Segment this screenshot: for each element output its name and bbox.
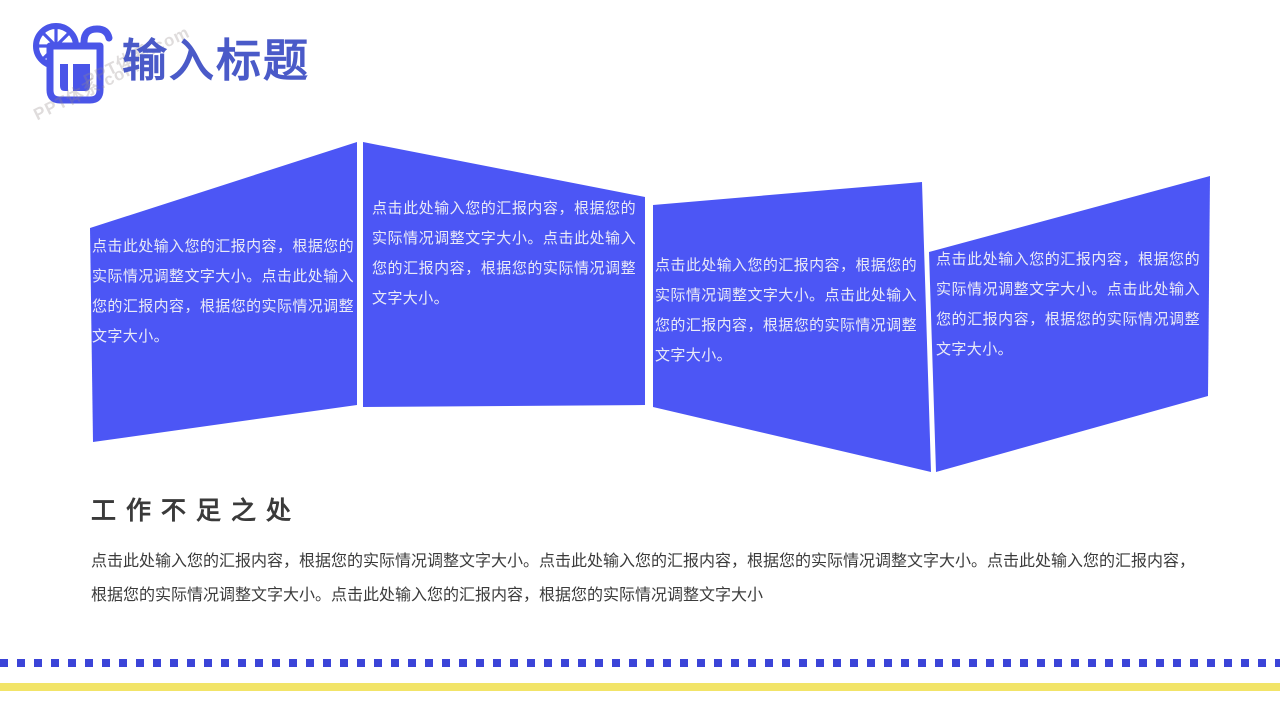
footer-dotted-divider [0,659,1280,667]
panel-body-text-3: 点击此处输入您的汇报内容，根据您的实际情况调整文字大小。点击此处输入您的汇报内容… [655,251,917,371]
panel-body-text-1: 点击此处输入您的汇报内容，根据您的实际情况调整文字大小。点击此处输入您的汇报内容… [92,232,354,352]
slide-canvas: PPT体系.com PPT体系.com 输入标题 点击此处输入您的汇报内容，根据… [0,0,1280,720]
panel-body-text-4: 点击此处输入您的汇报内容，根据您的实际情况调整文字大小。点击此处输入您的汇报内容… [936,245,1200,365]
section-heading: 工作不足之处 [91,491,301,527]
section-body-text: 点击此处输入您的汇报内容，根据您的实际情况调整文字大小。点击此处输入您的汇报内容… [91,545,1195,613]
footer-accent-bar [0,683,1280,691]
folded-panel-ribbon: 点击此处输入您的汇报内容，根据您的实际情况调整文字大小。点击此处输入您的汇报内容… [0,0,1280,500]
panel-body-text-2: 点击此处输入您的汇报内容，根据您的实际情况调整文字大小。点击此处输入您的汇报内容… [372,194,636,314]
